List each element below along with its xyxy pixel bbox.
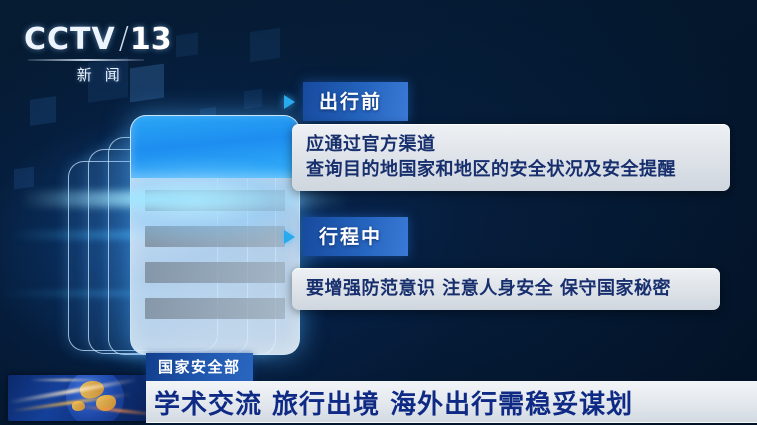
document-text-line [145,190,285,211]
lower-third: 国家安全部 学术交流 旅行出境 海外出行需稳妥谋划 [0,355,757,425]
background-square [30,96,56,126]
section-tag-row-2: 行程中 [284,217,408,256]
section-tag-label-1: 出行前 [303,82,408,121]
triangle-marker-icon [284,95,295,109]
triangle-marker-icon [284,230,295,244]
document-text-line [145,226,285,247]
document-text-line [145,262,285,283]
document-text-line [145,298,285,319]
panel-line: 要增强防范意识 注意人身安全 保守国家秘密 [306,276,706,301]
logo-number: 13 [130,22,172,57]
document-card-front [130,115,300,355]
panel-line: 应通过官方渠道 [306,132,716,157]
globe-icon [8,375,148,421]
panel-line: 查询目的地国家和地区的安全状况及安全提醒 [306,157,716,182]
logo-separator: / [119,21,129,56]
background-square [250,28,280,62]
section-tag-label-2: 行程中 [303,217,408,256]
headline-text: 学术交流 旅行出境 海外出行需稳妥谋划 [146,384,633,421]
headline-bar: 学术交流 旅行出境 海外出行需稳妥谋划 [146,381,757,423]
section-panel-1: 应通过官方渠道 查询目的地国家和地区的安全状况及安全提醒 [292,124,730,191]
channel-logo: CCTV / 13 新闻 [24,22,172,85]
background-square [14,167,34,190]
document-card-body [131,178,299,355]
logo-text: CCTV [24,22,116,57]
logo-subtitle: 新闻 [24,64,172,85]
document-card-header [131,116,299,178]
department-badge: 国家安全部 [146,353,253,381]
logo-underline [28,59,144,61]
globe-swoosh [30,379,100,381]
document-stack-illustration [60,105,310,360]
background-square [176,32,198,57]
section-tag-row-1: 出行前 [284,82,408,121]
broadcast-screen: CCTV / 13 新闻 出行前 应通过官方渠道 查询目的地国家和地区的安 [0,0,757,425]
section-panel-2: 要增强防范意识 注意人身安全 保守国家秘密 [292,268,720,310]
